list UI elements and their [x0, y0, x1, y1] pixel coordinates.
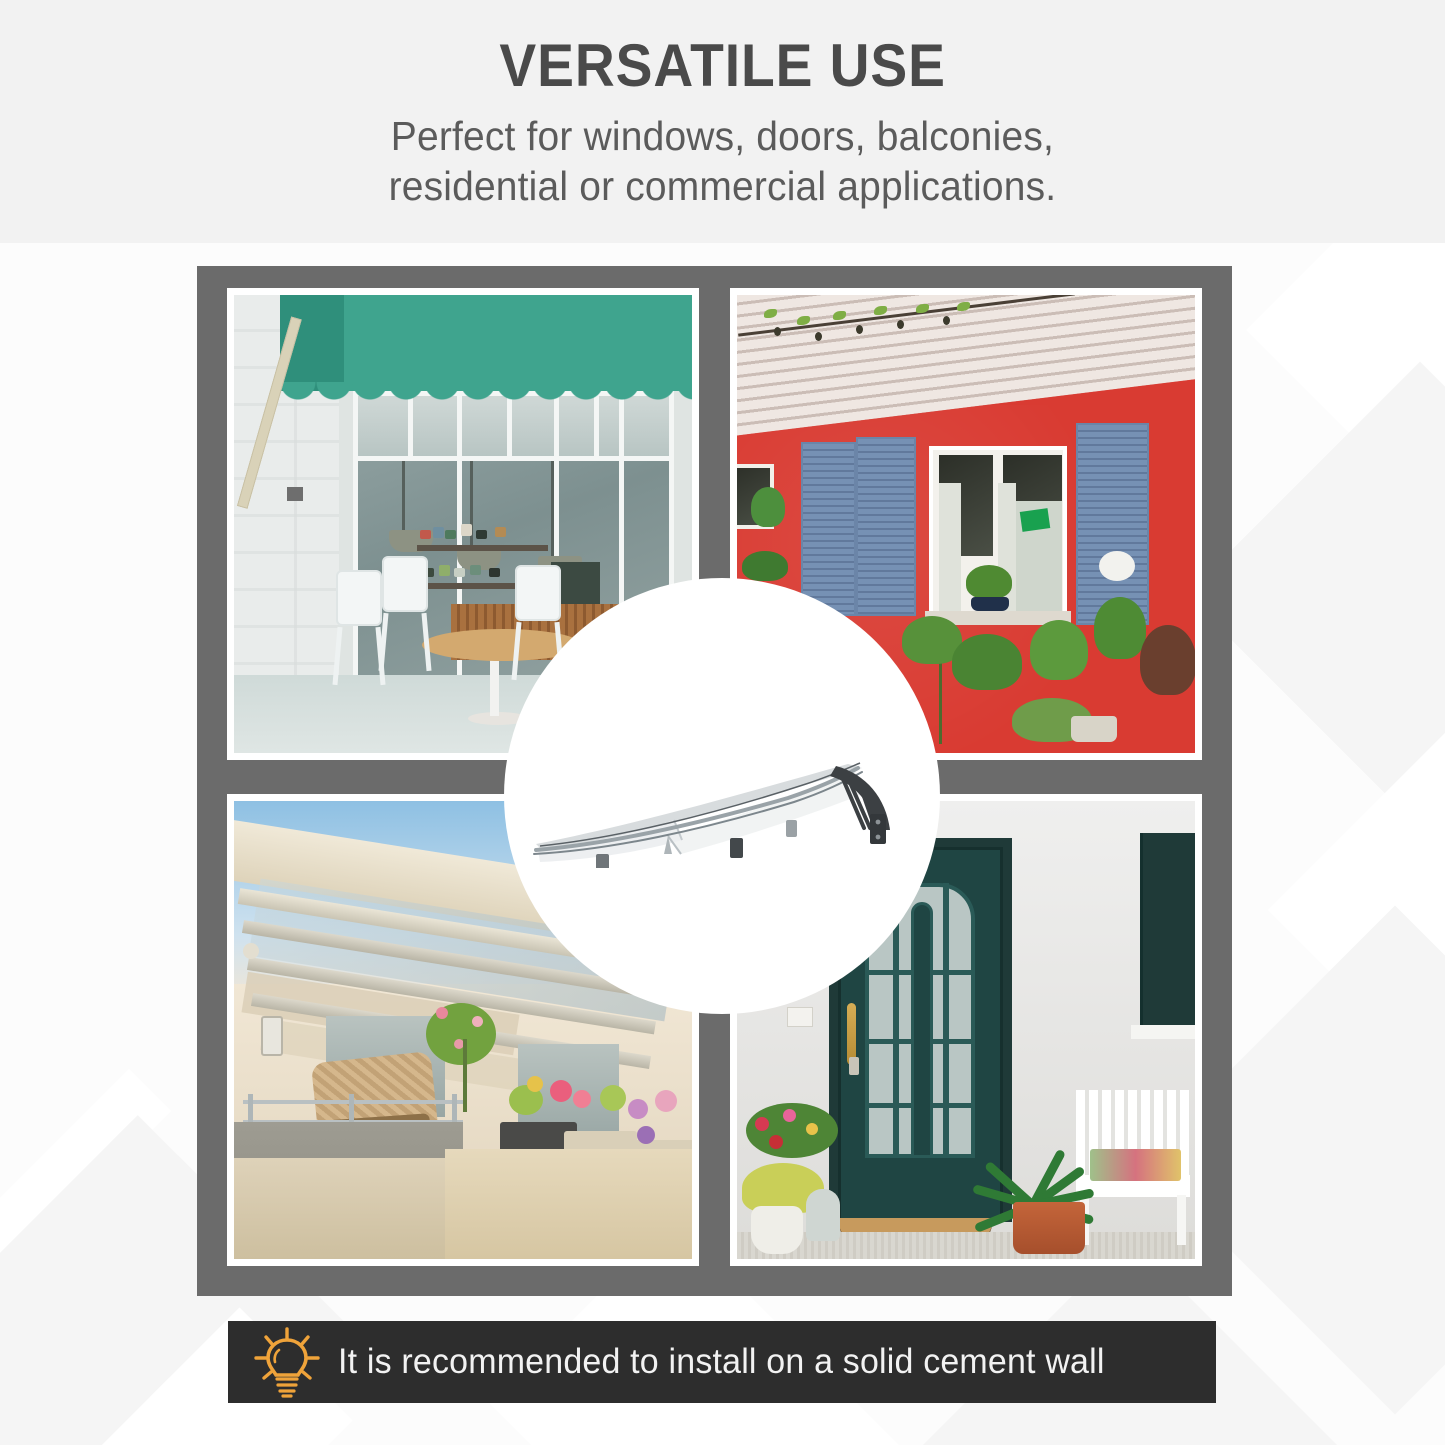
tip-text: It is recommended to install on a solid … — [338, 1342, 1105, 1382]
page-subtitle: Perfect for windows, doors, balconies, r… — [389, 111, 1057, 211]
header-band: VERSATILE USE Perfect for windows, doors… — [0, 0, 1445, 243]
door-canopy-awning-illustration — [518, 758, 928, 868]
subtitle-line-1: Perfect for windows, doors, balconies, — [389, 111, 1057, 161]
lightbulb-icon — [250, 1325, 324, 1399]
product-callout-circle — [504, 578, 940, 1014]
tip-banner: It is recommended to install on a solid … — [228, 1321, 1216, 1403]
page-title: VERSATILE USE — [499, 34, 945, 97]
subtitle-line-2: residential or commercial applications. — [389, 161, 1057, 211]
